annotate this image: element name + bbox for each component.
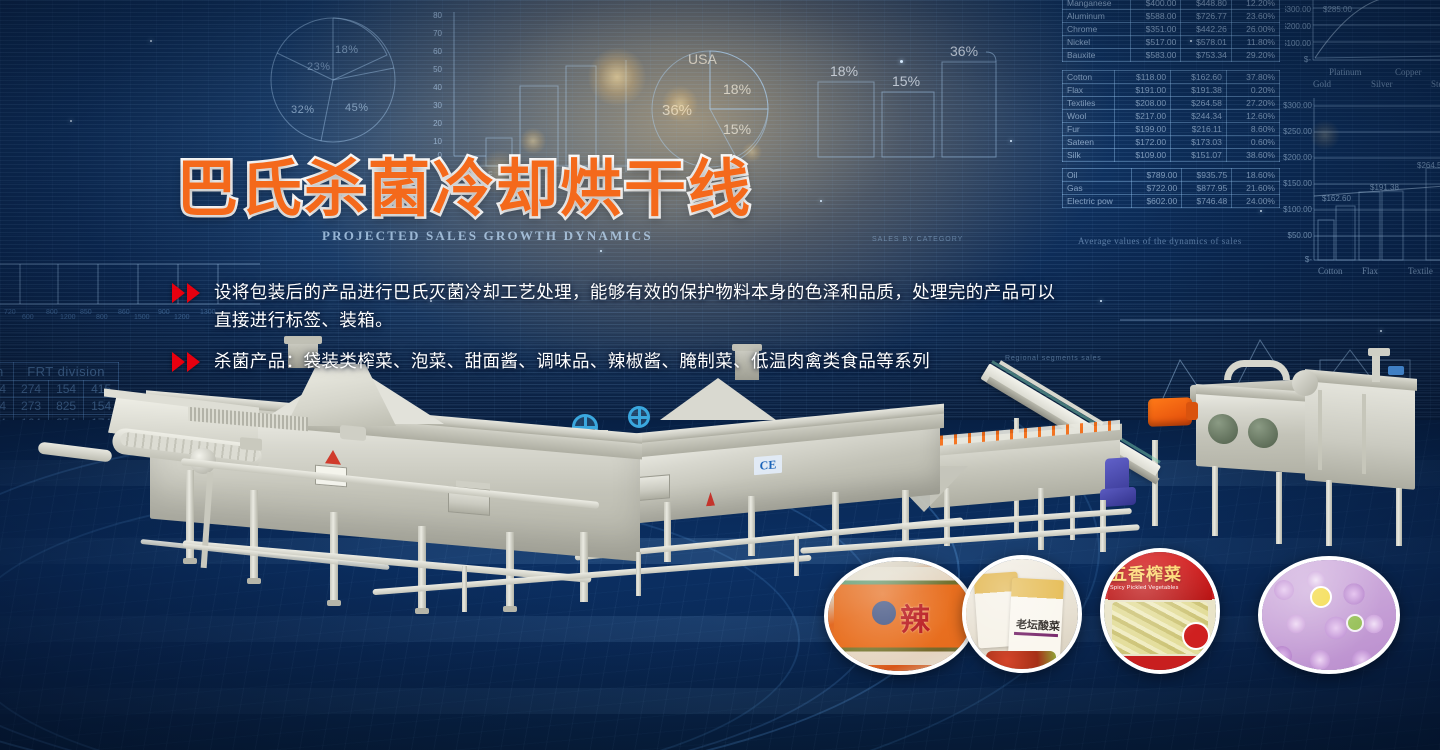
product-circle-3[interactable]: 五香榨菜 Spicy Pickled Vegetables (1100, 548, 1220, 674)
handwheel-valve-icon (628, 406, 650, 428)
machine-illustration: CE 山东汇康机械公司 汇康 0536-8799888 (0, 340, 1440, 670)
subtitle-english: PROJECTED SALES GROWTH DYNAMICS (322, 228, 653, 244)
double-arrow-icon (172, 347, 214, 372)
double-arrow-icon (172, 278, 214, 303)
hazard-warning-icon (325, 449, 341, 464)
bullet-text: 杀菌产品：袋装类榨菜、泡菜、甜面酱、调味品、辣椒酱、腌制菜、低温肉禽类食品等系列 (214, 347, 930, 375)
bullet-list: 设将包装后的产品进行巴氏灭菌冷却工艺处理，能够有效的保护物料本身的色泽和品质，处… (172, 278, 1072, 387)
list-item: 设将包装后的产品进行巴氏灭菌冷却工艺处理，能够有效的保护物料本身的色泽和品质，处… (172, 278, 1072, 335)
product-circle-2[interactable]: 老坛酸菜 (962, 555, 1082, 673)
page-title: 巴氏杀菌冷却烘干线 (176, 158, 752, 220)
bullet-text: 设将包装后的产品进行巴氏灭菌冷却工艺处理，能够有效的保护物料本身的色泽和品质，处… (214, 278, 1072, 335)
ce-mark-icon: CE (754, 455, 782, 475)
list-item: 杀菌产品：袋装类榨菜、泡菜、甜面酱、调味品、辣椒酱、腌制菜、低温肉禽类食品等系列 (172, 347, 1072, 375)
pasteurization-line-banner: 18% 23% 32% 45% 80 70 60 50 40 30 20 10 … (0, 0, 1440, 750)
product-circle-4[interactable] (1258, 556, 1400, 674)
product-circle-1[interactable]: 辣 (824, 557, 976, 675)
